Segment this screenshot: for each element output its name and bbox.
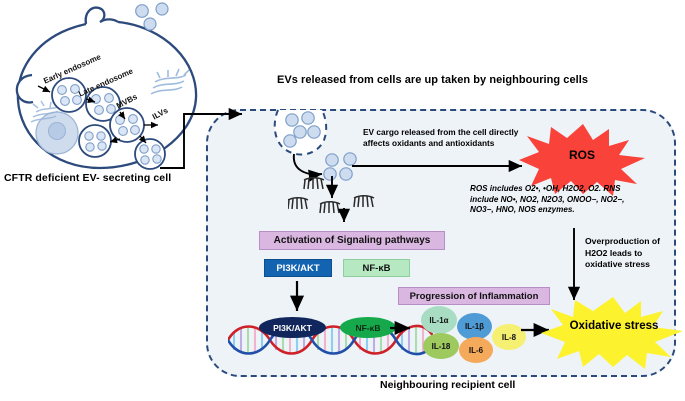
activation-box-label: Activation of Signaling pathways xyxy=(274,235,431,246)
cytokine-label: IL-6 xyxy=(469,346,483,355)
progression-of-inflammation-box: Progression of Inflammation xyxy=(398,287,550,305)
ros-species-annotation: ROS includes O2•, •OH, H2O2, O2. RNS inc… xyxy=(470,184,638,216)
cytokine-label: IL-1α xyxy=(429,316,448,325)
cargo-to-ros-arrow xyxy=(352,160,537,174)
banner-text: EVs released from cells are up taken by … xyxy=(277,74,677,86)
cytokine-il-18: IL-18 xyxy=(423,333,459,359)
overproduction-annotation: Overproduction of H2O2 leads to oxidativ… xyxy=(585,236,681,271)
dna-bound-nf-kb: NF-κB xyxy=(340,317,396,338)
oxidative-stress-label: Oxidative stress xyxy=(552,320,676,332)
cytokine-il-1-alpha: IL-1α xyxy=(421,306,457,334)
nf-kb-label: NF-κB xyxy=(363,263,391,274)
dna-to-cytokines-arrow xyxy=(390,320,422,336)
dna-bound-pi3k-akt: PI3K/AKT xyxy=(259,317,326,338)
dna-nf-kb-label: NF-κB xyxy=(355,323,380,333)
mvb-vesicle xyxy=(110,108,144,142)
cytokine-label: IL-1β xyxy=(465,322,484,331)
ros-label: ROS xyxy=(544,148,620,162)
activation-of-signaling-pathways-box: Activation of Signaling pathways xyxy=(259,231,445,250)
lysosome-vesicle xyxy=(79,125,111,157)
figure-canvas: Early endosome Late endosome MVBs ILVs C… xyxy=(0,0,685,401)
cytokine-il-6: IL-6 xyxy=(459,337,493,363)
inflammation-box-label: Progression of Inflammation xyxy=(410,291,539,302)
recipient-cell-caption: Neighbouring recipient cell xyxy=(380,379,610,391)
oxidative-stress-burst-shape xyxy=(541,297,685,369)
pi3k-akt-box: PI3K/AKT xyxy=(264,259,332,277)
cytokine-label: IL-18 xyxy=(432,342,451,351)
cytokine-label: IL-8 xyxy=(502,333,516,342)
nf-kb-box: NF-κB xyxy=(343,259,410,277)
ev-cargo-annotation: EV cargo released from the cell directly… xyxy=(363,127,523,149)
dna-pi3k-akt-label: PI3K/AKT xyxy=(273,323,312,333)
cytokine-il-1-beta: IL-1β xyxy=(457,313,492,340)
pi3k-akt-label: PI3K/AKT xyxy=(276,263,319,274)
